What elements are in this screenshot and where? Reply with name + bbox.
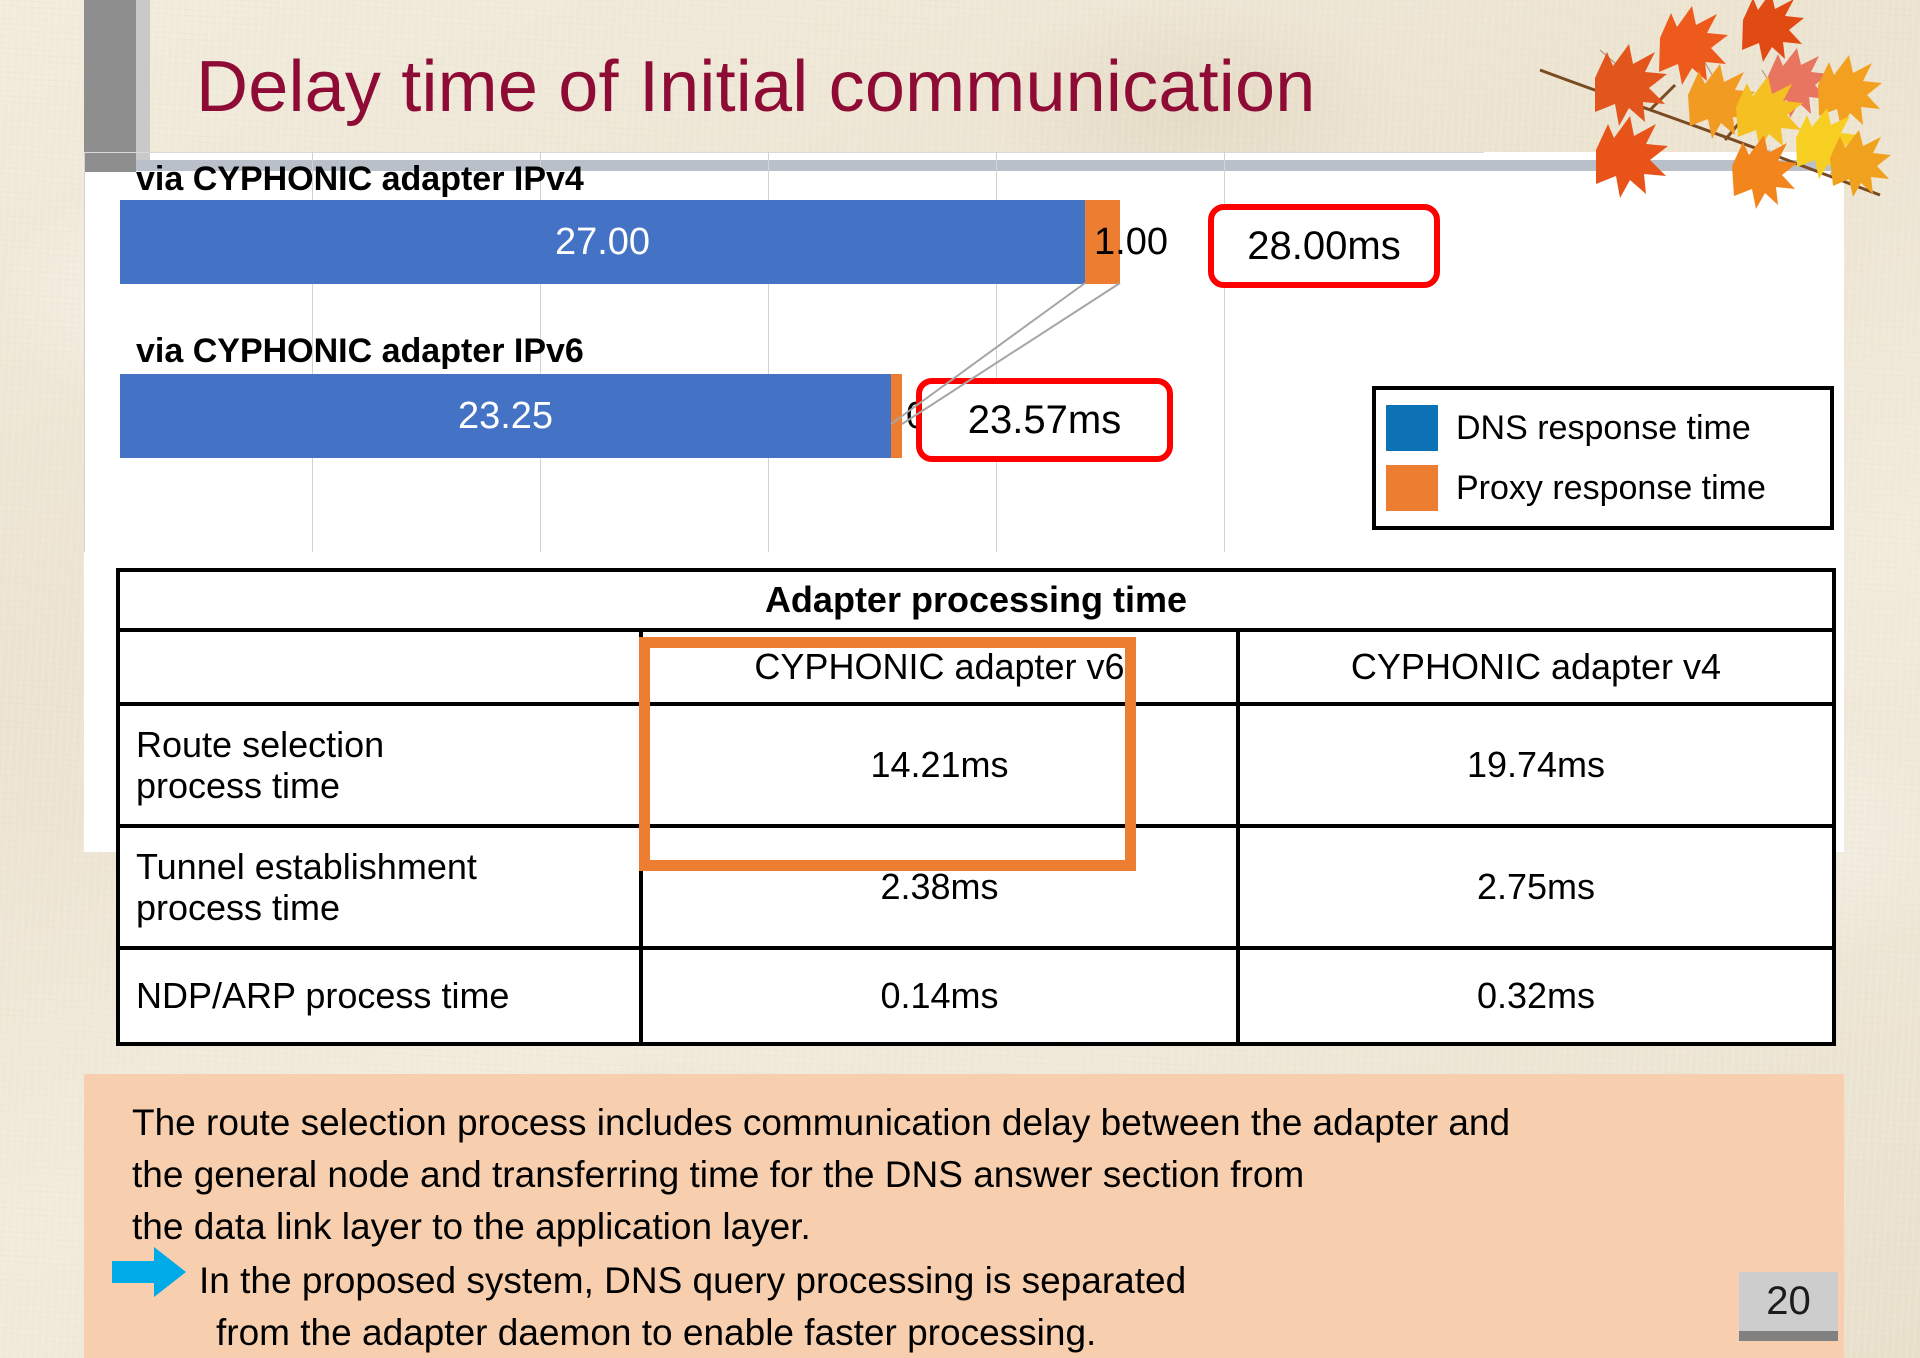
series-label-ipv6: via CYPHONIC adapter IPv6: [136, 332, 584, 371]
cell-v4-route-selection: 19.74ms: [1238, 704, 1834, 826]
legend-label-dns: DNS response time: [1456, 409, 1751, 448]
adapter-processing-time-table: Adapter processing time CYPHONIC adapter…: [116, 568, 1836, 1046]
row-label-line1: Route selection: [136, 724, 384, 765]
row-label-line2: process time: [136, 765, 340, 806]
series-label-ipv4: via CYPHONIC adapter IPv4: [136, 160, 584, 199]
table-row-title: Adapter processing time: [118, 570, 1834, 630]
table-row: Tunnel establishmentprocess time 2.38ms …: [118, 826, 1834, 948]
cell-v6-route-selection: 14.21ms: [641, 704, 1238, 826]
cell-v4-tunnel-establishment: 2.75ms: [1238, 826, 1834, 948]
page-number-shadow: [1739, 1331, 1838, 1341]
note-bullet-line-2: from the adapter daemon to enable faster…: [216, 1312, 1096, 1354]
cell-v4-ndp-arp: 0.32ms: [1238, 948, 1834, 1044]
right-arrow-icon: [110, 1245, 188, 1299]
note-line-2: the general node and transferring time f…: [132, 1154, 1304, 1196]
table-header-v4: CYPHONIC adapter v4: [1238, 630, 1834, 704]
bar-value-dns-ipv4: 27.00: [120, 200, 1085, 284]
legend-swatch-dns: [1386, 405, 1438, 451]
note-line-3: the data link layer to the application l…: [132, 1206, 811, 1248]
page-number-badge: 20: [1739, 1272, 1838, 1331]
note-bullet-line-1: In the proposed system, DNS query proces…: [199, 1260, 1186, 1302]
maple-leaves-icon: [1500, 0, 1920, 230]
table-title: Adapter processing time: [118, 570, 1834, 630]
bar-segment-proxy-ipv6: [891, 374, 902, 458]
table-row-header: CYPHONIC adapter v6 CYPHONIC adapter v4: [118, 630, 1834, 704]
total-badge-ipv4: 28.00ms: [1208, 204, 1440, 288]
note-panel: The route selection process includes com…: [84, 1074, 1844, 1358]
row-label-ndp-arp: NDP/ARP process time: [118, 948, 641, 1044]
row-label-line2: process time: [136, 887, 340, 928]
header-gray-block-light: [136, 0, 150, 165]
row-label-route-selection: Route selectionprocess time: [118, 704, 641, 826]
row-label-line1: Tunnel establishment: [136, 846, 477, 887]
row-label-tunnel-establishment: Tunnel establishmentprocess time: [118, 826, 641, 948]
legend-item-dns: DNS response time: [1386, 398, 1820, 458]
header-gray-block: [84, 0, 136, 172]
total-badge-ipv6: 23.57ms: [916, 378, 1173, 462]
chart-gridline: [84, 152, 85, 552]
page-title: Delay time of Initial communication: [196, 46, 1596, 146]
stacked-bar-chart: via CYPHONIC adapter IPv4 27.00 1.00 28.…: [84, 152, 1484, 552]
cell-v6-ndp-arp: 0.14ms: [641, 948, 1238, 1044]
chart-gridline: [84, 152, 1484, 153]
bar-value-dns-ipv6: 23.25: [120, 374, 891, 458]
table-row: NDP/ARP process time 0.14ms 0.32ms: [118, 948, 1834, 1044]
bar-value-proxy-ipv4: 1.00: [1094, 200, 1168, 284]
note-line-1: The route selection process includes com…: [132, 1102, 1510, 1144]
legend-label-proxy: Proxy response time: [1456, 469, 1766, 508]
table-row: Route selectionprocess time 14.21ms 19.7…: [118, 704, 1834, 826]
chart-legend: DNS response time Proxy response time: [1372, 386, 1834, 530]
table-header-v6: CYPHONIC adapter v6: [641, 630, 1238, 704]
cell-v6-tunnel-establishment: 2.38ms: [641, 826, 1238, 948]
legend-item-proxy: Proxy response time: [1386, 458, 1820, 518]
legend-swatch-proxy: [1386, 465, 1438, 511]
table-header-blank: [118, 630, 641, 704]
